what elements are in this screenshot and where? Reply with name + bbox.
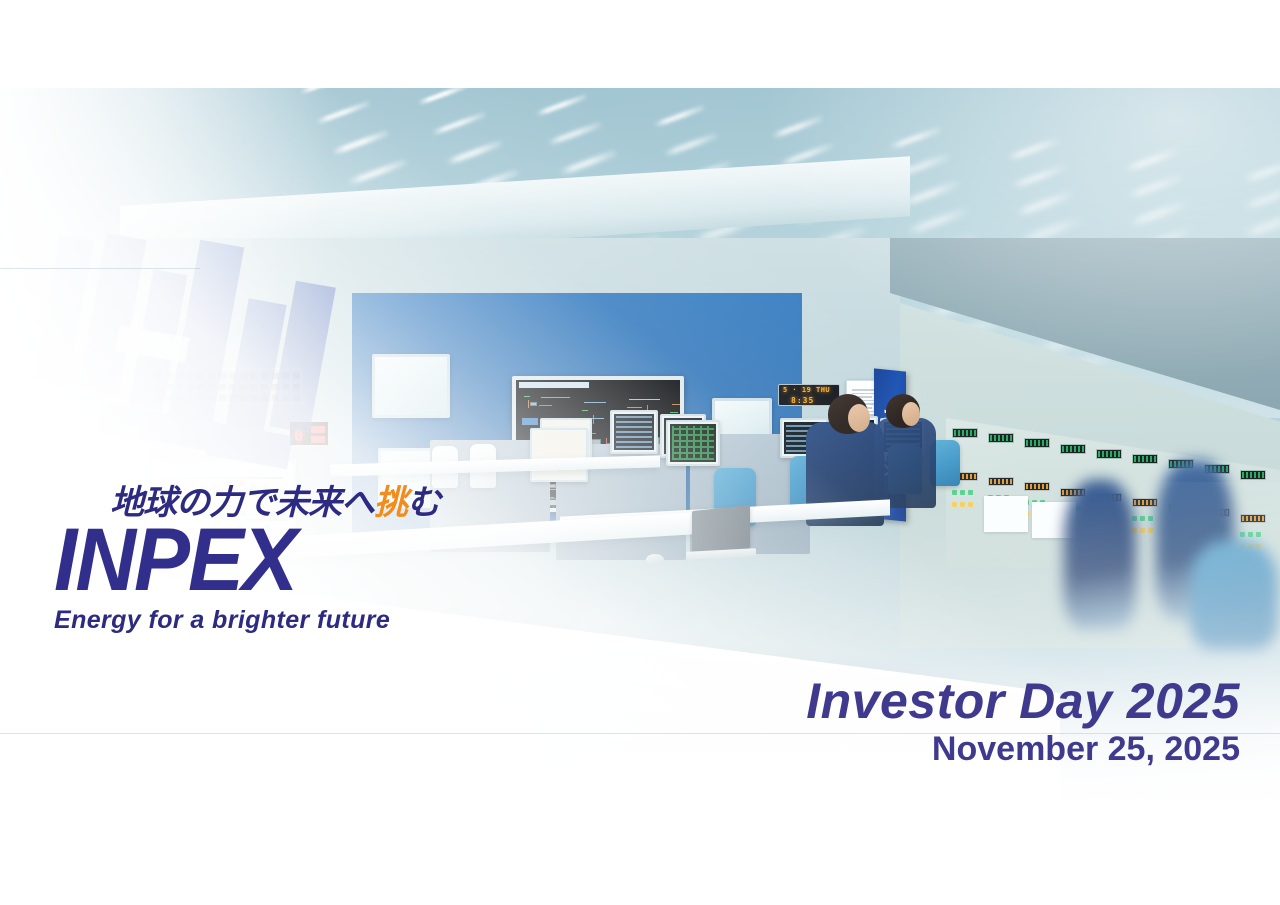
desk-monitor-8 (530, 428, 588, 482)
red-led-value: 0 (294, 426, 304, 445)
wall-monitor-1 (372, 354, 450, 418)
desk-monitor-2 (610, 410, 658, 454)
english-tagline: Energy for a brighter future (54, 606, 514, 635)
event-date: November 25, 2025 (806, 731, 1240, 768)
operator-1-face (848, 404, 870, 432)
event-title-block: Investor Day 2025 November 25, 2025 (806, 676, 1240, 768)
bottom-white-band (0, 812, 1280, 905)
chair-white-6 (120, 426, 150, 480)
blurred-chair-right (1190, 540, 1278, 650)
japanese-tagline-accent: 挑 (374, 484, 407, 522)
operator-2-face (902, 402, 920, 426)
mouse (646, 554, 664, 565)
top-white-band (0, 0, 1280, 88)
blurred-person-1 (1064, 480, 1136, 630)
chair-white-3 (0, 424, 30, 480)
chair-white-5 (78, 424, 108, 480)
title-slide: 0 5 · 19 THU 8:35 7 INPEX (0, 0, 1280, 905)
operator-2-body (874, 418, 936, 508)
annunciator-grid (150, 368, 302, 404)
inpex-logo-lockup: 地球の力で未来へ挑む INPEX Energy for a brighter f… (54, 486, 514, 635)
laptop-screen (692, 505, 750, 555)
event-title: Investor Day 2025 (806, 676, 1240, 727)
led-clock-time: 8:35 (791, 396, 814, 405)
led-clock-date: 5 · 19 THU (783, 386, 830, 394)
inpex-wordmark: INPEX (54, 518, 514, 603)
desk-monitor-4 (666, 420, 720, 466)
red-led-display: 0 (288, 420, 330, 447)
japanese-tagline-post: む (407, 484, 440, 522)
chair-white-4 (36, 422, 66, 480)
